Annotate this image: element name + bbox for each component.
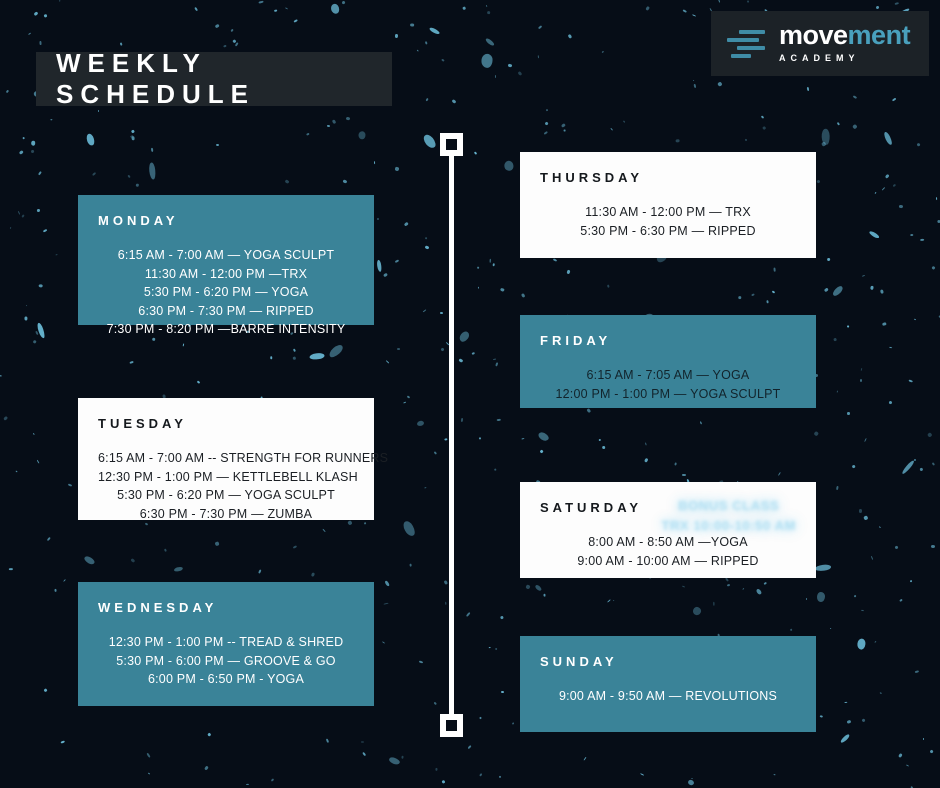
class-entry: 6:15 AM - 7:05 AM — YOGA xyxy=(540,366,796,385)
class-entry: 6:15 AM - 7:00 AM -- STRENGTH FOR RUNNER… xyxy=(98,449,354,468)
class-entry: 6:30 PM - 7:30 PM — RIPPED xyxy=(98,302,354,321)
brand-logo: movement ACADEMY xyxy=(711,11,929,76)
logo-word-primary: move xyxy=(779,20,848,50)
class-list-monday: 6:15 AM - 7:00 AM — YOGA SCULPT11:30 AM … xyxy=(98,246,354,339)
page-title: WEEKLY SCHEDULE xyxy=(56,48,392,110)
day-card-wednesday: WEDNESDAY 12:30 PM - 1:00 PM -- TREAD & … xyxy=(78,582,374,706)
class-entry: 11:30 AM - 12:00 PM —TRX xyxy=(98,265,354,284)
day-card-tuesday: TUESDAY 6:15 AM - 7:00 AM -- STRENGTH FO… xyxy=(78,398,374,520)
timeline-cap-top-icon xyxy=(440,133,463,156)
timeline-cap-bottom-icon xyxy=(440,714,463,737)
class-entry: 6:30 PM - 7:30 PM — ZUMBA xyxy=(98,505,354,524)
class-entry: 9:00 AM - 9:50 AM — REVOLUTIONS xyxy=(540,687,796,706)
class-list-saturday: 8:00 AM - 8:50 AM —YOGA9:00 AM - 10:00 A… xyxy=(540,533,796,570)
class-list-friday: 6:15 AM - 7:05 AM — YOGA12:00 PM - 1:00 … xyxy=(540,366,796,403)
day-title-friday: FRIDAY xyxy=(540,333,796,348)
day-card-monday: MONDAY 6:15 AM - 7:00 AM — YOGA SCULPT11… xyxy=(78,195,374,325)
day-card-sunday: SUNDAY 9:00 AM - 9:50 AM — REVOLUTIONS xyxy=(520,636,816,732)
class-list-sunday: 9:00 AM - 9:50 AM — REVOLUTIONS xyxy=(540,687,796,706)
logo-word-accent: ment xyxy=(848,20,911,50)
logo-subtitle: ACADEMY xyxy=(779,53,862,63)
class-entry: 12:30 PM - 1:00 PM — KETTLEBELL KLASH xyxy=(98,468,354,487)
class-entry: 5:30 PM - 6:30 PM — RIPPED xyxy=(540,222,796,241)
class-entry: 5:30 PM - 6:20 PM — YOGA SCULPT xyxy=(98,486,354,505)
class-entry: 12:30 PM - 1:00 PM -- TREAD & SHRED xyxy=(98,633,354,652)
class-entry: 8:00 AM - 8:50 AM —YOGA xyxy=(540,533,796,552)
class-entry: 6:00 PM - 6:50 PM - YOGA xyxy=(98,670,354,689)
class-entry: 5:30 PM - 6:20 PM — YOGA xyxy=(98,283,354,302)
day-title-sunday: SUNDAY xyxy=(540,654,796,669)
timeline-divider xyxy=(449,140,454,730)
day-card-saturday: SATURDAY BONUS CLASS TRX 10:00-10:50 AM … xyxy=(520,482,816,578)
class-entry: 7:30 PM - 8:20 PM —BARRE INTENSITY xyxy=(98,320,354,339)
day-title-saturday: SATURDAY xyxy=(540,500,796,515)
day-card-friday: FRIDAY 6:15 AM - 7:05 AM — YOGA12:00 PM … xyxy=(520,315,816,408)
class-entry: 11:30 AM - 12:00 PM — TRX xyxy=(540,203,796,222)
logo-wordmark-group: movement ACADEMY xyxy=(779,22,929,65)
day-title-tuesday: TUESDAY xyxy=(98,416,354,431)
day-title-thursday: THURSDAY xyxy=(540,170,796,185)
logo-wordmark: movement xyxy=(779,20,910,50)
class-list-tuesday: 6:15 AM - 7:00 AM -- STRENGTH FOR RUNNER… xyxy=(98,449,354,523)
motion-bars-icon xyxy=(725,24,771,64)
day-title-wednesday: WEDNESDAY xyxy=(98,600,354,615)
day-card-thursday: THURSDAY 11:30 AM - 12:00 PM — TRX5:30 P… xyxy=(520,152,816,258)
day-title-monday: MONDAY xyxy=(98,213,354,228)
class-entry: 5:30 PM - 6:00 PM — GROOVE & GO xyxy=(98,652,354,671)
class-entry: 6:15 AM - 7:00 AM — YOGA SCULPT xyxy=(98,246,354,265)
class-list-thursday: 11:30 AM - 12:00 PM — TRX5:30 PM - 6:30 … xyxy=(540,203,796,240)
class-list-wednesday: 12:30 PM - 1:00 PM -- TREAD & SHRED5:30 … xyxy=(98,633,354,689)
weekly-schedule-poster: WEEKLY SCHEDULE movement ACADEMY MONDAY … xyxy=(0,0,940,788)
page-title-banner: WEEKLY SCHEDULE xyxy=(36,52,392,106)
class-entry: 9:00 AM - 10:00 AM — RIPPED xyxy=(540,552,796,571)
class-entry: 12:00 PM - 1:00 PM — YOGA SCULPT xyxy=(540,385,796,404)
